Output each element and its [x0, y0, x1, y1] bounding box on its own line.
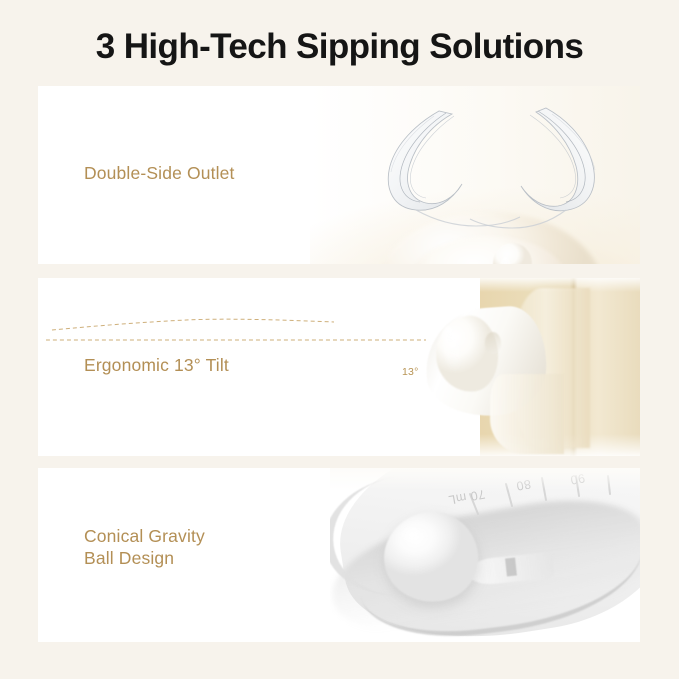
feature-label-conical-gravity-ball: Conical Gravity Ball Design — [84, 525, 205, 570]
liquid-jet-left — [388, 111, 520, 226]
page-title: 3 High-Tech Sipping Solutions — [0, 27, 679, 67]
feature-panel-double-side-outlet: Double-Side Outlet — [38, 86, 640, 264]
scene-top-fade — [330, 468, 640, 490]
feature-label-ergonomic-tilt: Ergonomic 13° Tilt — [84, 354, 229, 376]
angle-annotation-13-degrees: 13° — [402, 366, 418, 378]
feature-infographic: 3 High-Tech Sipping Solutions — [0, 0, 679, 679]
liquid-jet-right — [470, 108, 595, 228]
feature-panel-conical-gravity-ball: 70 mL 80 90 Conical Gravity Ball Design — [38, 468, 640, 642]
feature-panel-ergonomic-tilt: Ergonomic 13° Tilt — [38, 278, 640, 456]
bottle-interior-scene: 70 mL 80 90 — [330, 468, 640, 642]
feature-label-double-side-outlet: Double-Side Outlet — [84, 162, 235, 184]
